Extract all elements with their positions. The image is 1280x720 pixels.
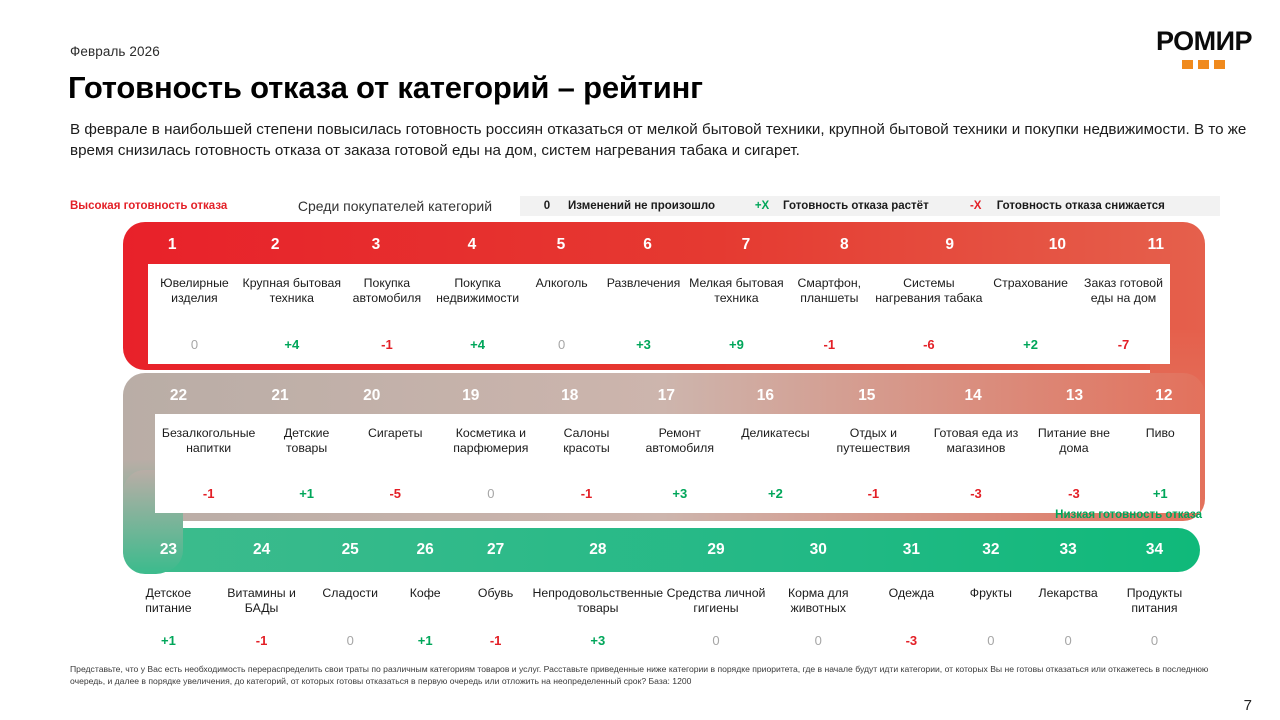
legend-among-buyers: Среди покупателей категорий [270, 198, 520, 214]
category-cell[interactable]: Непродовольственные товары+3 [532, 576, 664, 660]
rank-number: 20 [326, 387, 418, 405]
category-name: Кофе [410, 586, 441, 601]
category-delta: -1 [203, 486, 215, 513]
category-name: Развлечения [607, 276, 681, 291]
category-delta: -1 [868, 486, 880, 513]
rank-number: 17 [616, 387, 717, 405]
category-delta: +3 [590, 633, 605, 660]
rank-number: 24 [214, 541, 309, 559]
category-name: Сладости [322, 586, 378, 601]
category-delta: +3 [672, 486, 687, 513]
category-delta: -3 [906, 633, 918, 660]
category-delta: -1 [256, 633, 268, 660]
category-name: Покупка недвижимости [431, 276, 524, 306]
category-cell[interactable]: Мелкая бытовая техника+9 [688, 264, 785, 364]
category-delta: -1 [824, 337, 836, 364]
rank-number: 19 [418, 387, 524, 405]
row-2-card: Безалкогольные напитки-1Детские товары+1… [155, 414, 1200, 513]
legend-label-minus: Готовность отказа снижается [997, 200, 1165, 212]
rank-number: 4 [423, 236, 521, 254]
category-delta: -6 [923, 337, 935, 364]
rank-number: 26 [391, 541, 459, 559]
category-name: Смартфон, планшеты [785, 276, 873, 306]
legend-key-plus: +X [749, 200, 775, 212]
category-cell[interactable]: Заказ готовой еды на дом-7 [1077, 264, 1170, 364]
category-cell[interactable]: Страхование+2 [984, 264, 1077, 364]
rank-number: 10 [1008, 236, 1106, 254]
footnote: Представьте, что у Вас есть необходимост… [70, 664, 1220, 687]
category-name: Ремонт автомобиля [631, 426, 729, 456]
category-cell[interactable]: Ювелирные изделия0 [148, 264, 241, 364]
logo-squares-icon [1156, 60, 1252, 69]
category-name: Одежда [889, 586, 934, 601]
category-delta: +1 [161, 633, 176, 660]
category-cell[interactable]: Одежда-3 [868, 576, 954, 660]
category-name: Косметика и парфюмерия [440, 426, 543, 456]
page-title: Готовность отказа от категорий – рейтинг [68, 70, 703, 106]
category-cell[interactable]: Крупная бытовая техника+4 [241, 264, 343, 364]
rank-number: 3 [329, 236, 423, 254]
category-name: Фрукты [970, 586, 1012, 601]
romir-logo: РОМИР [1156, 28, 1252, 69]
category-name: Продукты питания [1109, 586, 1200, 616]
category-delta: 0 [347, 633, 354, 660]
legend-label-plus: Готовность отказа растёт [783, 200, 929, 212]
category-cell[interactable]: Пиво+1 [1121, 414, 1200, 513]
category-delta: -1 [490, 633, 502, 660]
category-cell[interactable]: Корма для животных0 [768, 576, 868, 660]
category-cell[interactable]: Развлечения+3 [599, 264, 687, 364]
category-delta: -7 [1118, 337, 1130, 364]
category-name: Витамины и БАДы [214, 586, 309, 616]
rank-number: 31 [868, 541, 954, 559]
rank-number: 13 [1026, 387, 1123, 405]
rank-number: 2 [221, 236, 329, 254]
category-cell[interactable]: Фрукты0 [955, 576, 1028, 660]
legend-high-readiness: Высокая готовность отказа [70, 200, 270, 212]
category-delta: +2 [768, 486, 783, 513]
page-subtitle: В феврале в наибольшей степени повысилас… [70, 120, 1250, 161]
category-cell[interactable]: Сигареты-5 [351, 414, 440, 513]
category-cell[interactable]: Обувь-1 [459, 576, 532, 660]
row-1-rank-strip: 1234567891011 [123, 226, 1205, 264]
category-name: Салоны красоты [542, 426, 631, 456]
category-delta: 0 [191, 337, 198, 364]
category-delta: 0 [1151, 633, 1158, 660]
category-delta: -1 [581, 486, 593, 513]
rank-number: 15 [814, 387, 920, 405]
category-delta: 0 [987, 633, 994, 660]
category-name: Заказ готовой еды на дом [1077, 276, 1170, 306]
category-name: Лекарства [1039, 586, 1098, 601]
category-name: Мелкая бытовая техника [688, 276, 785, 306]
category-cell[interactable]: Сладости0 [309, 576, 391, 660]
category-cell[interactable]: Ремонт автомобиля+3 [631, 414, 729, 513]
rank-number: 21 [234, 387, 326, 405]
category-cell[interactable]: Системы нагревания табака-6 [874, 264, 985, 364]
legend-low-readiness: Низкая готовность отказа [1055, 509, 1202, 521]
category-delta: 0 [1065, 633, 1072, 660]
category-delta: +1 [418, 633, 433, 660]
rank-number: 14 [920, 387, 1026, 405]
category-name: Пиво [1146, 426, 1175, 441]
page-number: 7 [1244, 697, 1252, 714]
rank-number: 22 [123, 387, 234, 405]
category-name: Обувь [478, 586, 513, 601]
category-name: Детское питание [123, 586, 214, 616]
category-name: Алкоголь [536, 276, 588, 291]
row-2-rank-strip: 2221201918171615141312 [123, 377, 1205, 415]
rank-number: 8 [797, 236, 891, 254]
category-name: Детские товары [262, 426, 351, 456]
category-cell[interactable]: Покупка автомобиля-1 [343, 264, 431, 364]
row-3-labels: Детское питание+1Витамины и БАДы-1Сладос… [123, 576, 1200, 660]
rank-number: 18 [524, 387, 616, 405]
category-cell[interactable]: Детские товары+1 [262, 414, 351, 513]
category-delta: +4 [470, 337, 485, 364]
legend-key-minus: -X [963, 200, 989, 212]
category-cell[interactable]: Салоны красоты-1 [542, 414, 631, 513]
rank-number: 23 [123, 541, 214, 559]
category-cell[interactable]: Детское питание+1 [123, 576, 214, 660]
category-name: Готовая еда из магазинов [925, 426, 1028, 456]
legend: Высокая готовность отказа Среди покупате… [70, 196, 1220, 216]
rank-number: 29 [664, 541, 769, 559]
category-delta: 0 [487, 486, 494, 513]
category-cell[interactable]: Алкоголь0 [524, 264, 599, 364]
category-cell[interactable]: Готовая еда из магазинов-3 [925, 414, 1028, 513]
rank-number: 25 [309, 541, 391, 559]
rank-number: 1 [123, 236, 221, 254]
category-cell[interactable]: Кофе+1 [391, 576, 459, 660]
category-name: Ювелирные изделия [148, 276, 241, 306]
rank-number: 28 [532, 541, 664, 559]
rank-number: 12 [1123, 387, 1205, 405]
category-delta: -5 [389, 486, 401, 513]
category-name: Деликатесы [741, 426, 809, 441]
category-name: Средства личной гигиены [664, 586, 769, 616]
category-name: Сигареты [368, 426, 423, 441]
category-delta: +9 [729, 337, 744, 364]
category-cell[interactable]: Продукты питания0 [1109, 576, 1200, 660]
category-cell[interactable]: Косметика и парфюмерия0 [440, 414, 543, 513]
legend-key-zero: 0 [534, 200, 560, 212]
category-cell[interactable]: Питание вне дома-3 [1027, 414, 1120, 513]
category-delta: -3 [970, 486, 982, 513]
legend-key-box: 0 Изменений не произошло +X Готовность о… [520, 196, 1220, 216]
rank-number: 9 [891, 236, 1008, 254]
category-name: Безалкогольные напитки [155, 426, 262, 456]
rank-number: 32 [955, 541, 1028, 559]
logo-text: РОМИР [1156, 28, 1252, 55]
category-name: Системы нагревания табака [874, 276, 985, 306]
rank-number: 30 [768, 541, 868, 559]
row-1-card: Ювелирные изделия0Крупная бытовая техник… [148, 264, 1170, 364]
category-delta: 0 [815, 633, 822, 660]
category-delta: +4 [284, 337, 299, 364]
rank-number: 11 [1107, 236, 1205, 254]
category-cell[interactable]: Средства личной гигиены0 [664, 576, 769, 660]
category-name: Отдых и путешествия [822, 426, 925, 456]
category-name: Непродовольственные товары [532, 586, 664, 616]
category-cell[interactable]: Смартфон, планшеты-1 [785, 264, 873, 364]
category-name: Покупка автомобиля [343, 276, 431, 306]
category-cell[interactable]: Безалкогольные напитки-1 [155, 414, 262, 513]
category-delta: +1 [299, 486, 314, 513]
slide-date: Февраль 2026 [70, 44, 160, 59]
category-delta: +2 [1023, 337, 1038, 364]
category-name: Корма для животных [768, 586, 868, 616]
category-cell[interactable]: Деликатесы+2 [729, 414, 822, 513]
category-cell[interactable]: Лекарства0 [1027, 576, 1109, 660]
category-delta: -1 [381, 337, 393, 364]
category-cell[interactable]: Покупка недвижимости+4 [431, 264, 524, 364]
category-name: Страхование [993, 276, 1068, 291]
rank-number: 5 [521, 236, 601, 254]
rank-number: 34 [1109, 541, 1200, 559]
rank-number: 33 [1027, 541, 1109, 559]
category-delta: 0 [712, 633, 719, 660]
rank-number: 16 [717, 387, 814, 405]
category-name: Крупная бытовая техника [241, 276, 343, 306]
legend-label-zero: Изменений не произошло [568, 200, 715, 212]
category-cell[interactable]: Витамины и БАДы-1 [214, 576, 309, 660]
category-name: Питание вне дома [1027, 426, 1120, 456]
category-delta: 0 [558, 337, 565, 364]
category-cell[interactable]: Отдых и путешествия-1 [822, 414, 925, 513]
rank-number: 27 [459, 541, 532, 559]
rank-number: 7 [694, 236, 797, 254]
category-delta: +3 [636, 337, 651, 364]
row-3-rank-strip: 232425262728293031323334 [123, 531, 1200, 569]
rank-number: 6 [601, 236, 695, 254]
